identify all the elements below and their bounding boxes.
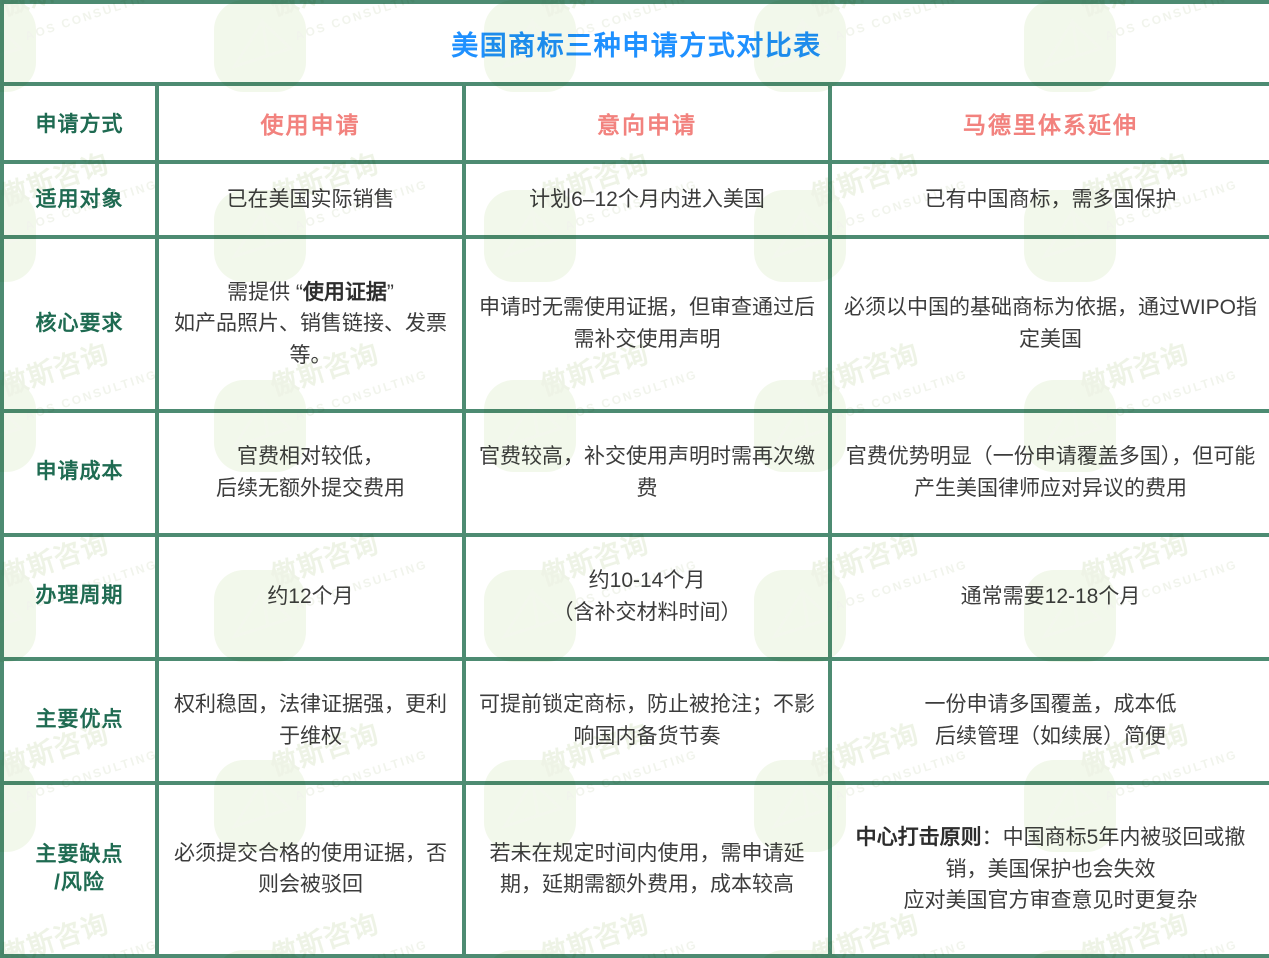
row-label: 适用对象 bbox=[2, 162, 157, 237]
row-label: 主要优点 bbox=[2, 659, 157, 783]
table-cell: 官费较高，补交使用声明时需再次缴费 bbox=[464, 411, 830, 535]
table-row: 主要缺点/风险必须提交合格的使用证据，否则会被驳回若未在规定时间内使用，需申请延… bbox=[2, 783, 1269, 957]
table-cell: 必须提交合格的使用证据，否则会被驳回 bbox=[157, 783, 464, 957]
emphasis-text: 中心打击原则 bbox=[856, 826, 982, 849]
table-cell: 必须以中国的基础商标为依据，通过WIPO指定美国 bbox=[830, 237, 1269, 410]
table-cell: 已有中国商标，需多国保护 bbox=[830, 162, 1269, 237]
table-cell: 约10-14个月（含补交材料时间） bbox=[464, 535, 830, 659]
table-row: 核心要求需提供 “使用证据”如产品照片、销售链接、发票等。申请时无需使用证据，但… bbox=[2, 237, 1269, 410]
header-column-1: 使用申请 bbox=[157, 84, 464, 162]
table-cell: 需提供 “使用证据”如产品照片、销售链接、发票等。 bbox=[157, 237, 464, 410]
row-label: 办理周期 bbox=[2, 535, 157, 659]
title-row: 美国商标三种申请方式对比表 bbox=[2, 2, 1269, 84]
table-cell: 官费相对较低，后续无额外提交费用 bbox=[157, 411, 464, 535]
header-label: 申请方式 bbox=[2, 84, 157, 162]
comparison-table: 美国商标三种申请方式对比表 申请方式 使用申请 意向申请 马德里体系延伸 适用对… bbox=[0, 0, 1269, 958]
header-column-3: 马德里体系延伸 bbox=[830, 84, 1269, 162]
emphasis-text: 使用证据 bbox=[303, 281, 387, 304]
table-cell: 已在美国实际销售 bbox=[157, 162, 464, 237]
table-cell: 计划6–12个月内进入美国 bbox=[464, 162, 830, 237]
table-cell: 申请时无需使用证据，但审查通过后需补交使用声明 bbox=[464, 237, 830, 410]
table-cell: 若未在规定时间内使用，需申请延期，延期需额外费用，成本较高 bbox=[464, 783, 830, 957]
table-cell: 一份申请多国覆盖，成本低后续管理（如续展）简便 bbox=[830, 659, 1269, 783]
table-row: 主要优点权利稳固，法律证据强，更利于维权可提前锁定商标，防止被抢注；不影响国内备… bbox=[2, 659, 1269, 783]
page-title: 美国商标三种申请方式对比表 bbox=[451, 31, 822, 61]
table-row: 适用对象已在美国实际销售计划6–12个月内进入美国已有中国商标，需多国保护 bbox=[2, 162, 1269, 237]
row-label: 申请成本 bbox=[2, 411, 157, 535]
row-label: 核心要求 bbox=[2, 237, 157, 410]
table-cell: 中心打击原则：中国商标5年内被驳回或撤销，美国保护也会失效应对美国官方审查意见时… bbox=[830, 783, 1269, 957]
comparison-sheet: 美国商标三种申请方式对比表 申请方式 使用申请 意向申请 马德里体系延伸 适用对… bbox=[0, 0, 1269, 958]
table-cell: 可提前锁定商标，防止被抢注；不影响国内备货节奏 bbox=[464, 659, 830, 783]
header-row: 申请方式 使用申请 意向申请 马德里体系延伸 bbox=[2, 84, 1269, 162]
table-cell: 官费优势明显（一份申请覆盖多国），但可能产生美国律师应对异议的费用 bbox=[830, 411, 1269, 535]
table-row: 办理周期约12个月约10-14个月（含补交材料时间）通常需要12-18个月 bbox=[2, 535, 1269, 659]
table-cell: 权利稳固，法律证据强，更利于维权 bbox=[157, 659, 464, 783]
table-row: 申请成本官费相对较低，后续无额外提交费用官费较高，补交使用声明时需再次缴费官费优… bbox=[2, 411, 1269, 535]
page-title-cell: 美国商标三种申请方式对比表 bbox=[2, 2, 1269, 84]
table-cell: 约12个月 bbox=[157, 535, 464, 659]
table-cell: 通常需要12-18个月 bbox=[830, 535, 1269, 659]
header-column-2: 意向申请 bbox=[464, 84, 830, 162]
row-label: 主要缺点/风险 bbox=[2, 783, 157, 957]
